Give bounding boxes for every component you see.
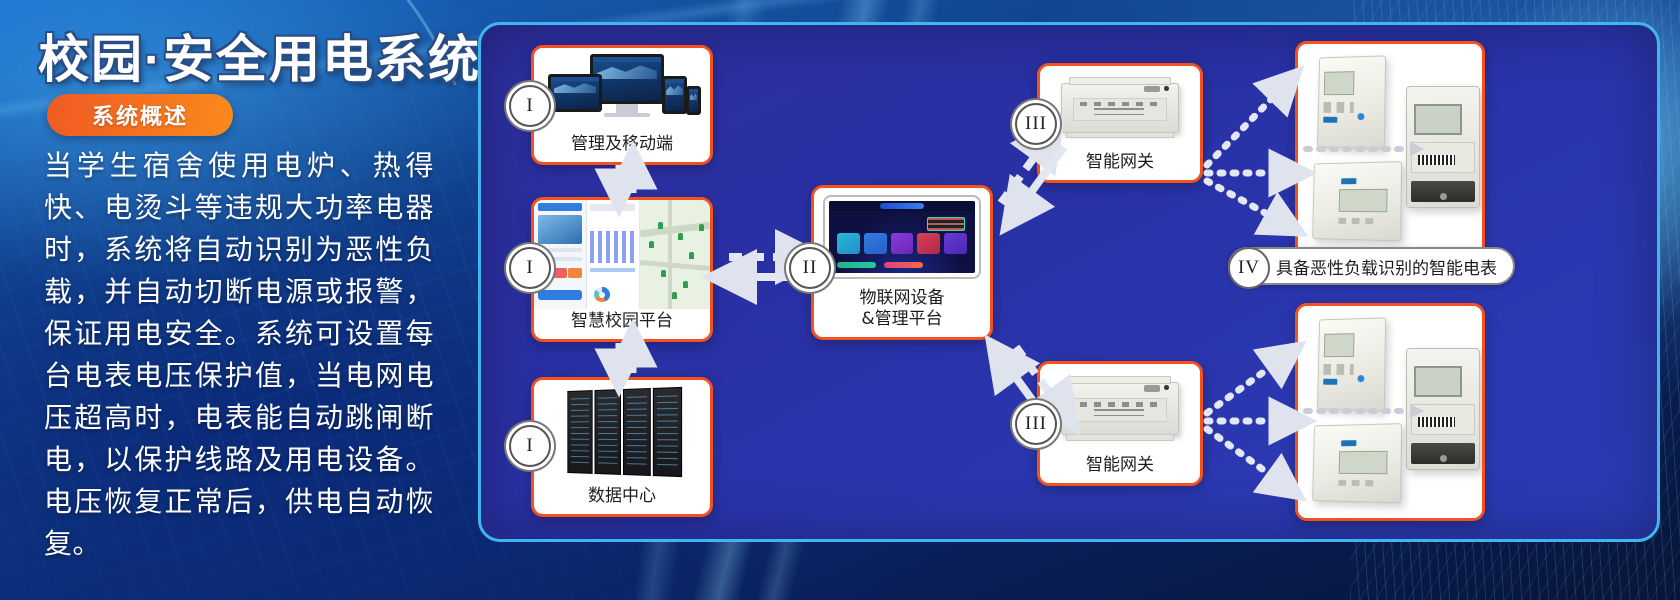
section-badge: 系统概述 [47,94,233,136]
node-gateway-bottom-badge: III [1015,403,1057,445]
node-gateway-top-badge: III [1015,103,1057,145]
system-description: 当学生宿舍使用电炉、热得快、电烫斗等违规大功率电器时，系统将自动识别为恶性负载，… [44,145,434,565]
node-management-badge: I [509,85,551,127]
intro-column: 校园·安全用电系统 系统概述 当学生宿舍使用电炉、热得快、电烫斗等违规大功率电器… [0,0,470,600]
connector-gateway-bottom-meters [1207,355,1293,487]
node-campus-badge: I [509,247,551,289]
meter-pill-badge: IV [1228,247,1270,289]
meter-pill-text: 具备恶性负载识别的智能电表 [1276,254,1497,279]
connector-campus-datacenter [619,343,633,373]
meter-pill-label[interactable]: IV 具备恶性负载识别的智能电表 [1228,247,1515,285]
connector-iot-gateway-top [1001,137,1064,213]
connector-gateway-top-meters [1207,83,1293,225]
node-iot-badge: II [789,247,831,289]
node-datacenter-badge: I [509,425,551,467]
connector-management-campus [619,165,633,193]
page-title: 校园·安全用电系统 [38,18,481,92]
architecture-diagram-panel: 管理及移动端 I [478,22,1660,542]
